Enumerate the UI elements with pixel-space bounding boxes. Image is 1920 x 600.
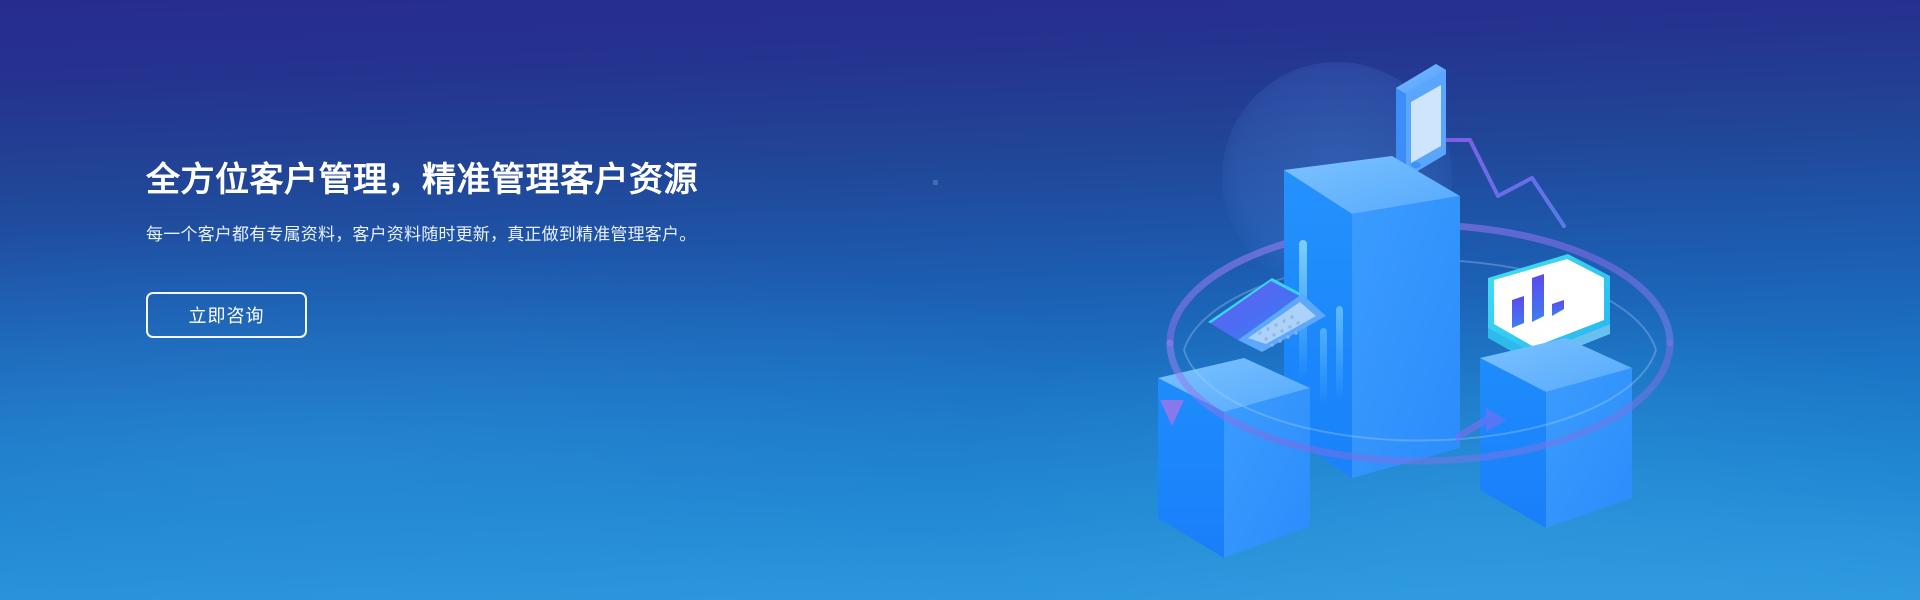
tablet-icon <box>1396 64 1446 178</box>
pillar-left <box>1158 278 1326 558</box>
banner-copy: 全方位客户管理，精准管理客户资源 每一个客户都有专属资料，客户资料随时更新，真正… <box>146 158 786 338</box>
pillar-center <box>1284 64 1460 478</box>
page-title: 全方位客户管理，精准管理客户资源 <box>146 158 786 202</box>
hero-banner: 全方位客户管理，精准管理客户资源 每一个客户都有专属资料，客户资料随时更新，真正… <box>0 0 1920 600</box>
consult-now-button[interactable]: 立即咨询 <box>146 292 307 338</box>
hero-illustration <box>1140 28 1700 588</box>
background-speck <box>933 180 938 185</box>
banner-subtitle: 每一个客户都有专属资料，客户资料随时更新，真正做到精准管理客户。 <box>146 202 731 248</box>
pillar-right <box>1480 254 1632 528</box>
